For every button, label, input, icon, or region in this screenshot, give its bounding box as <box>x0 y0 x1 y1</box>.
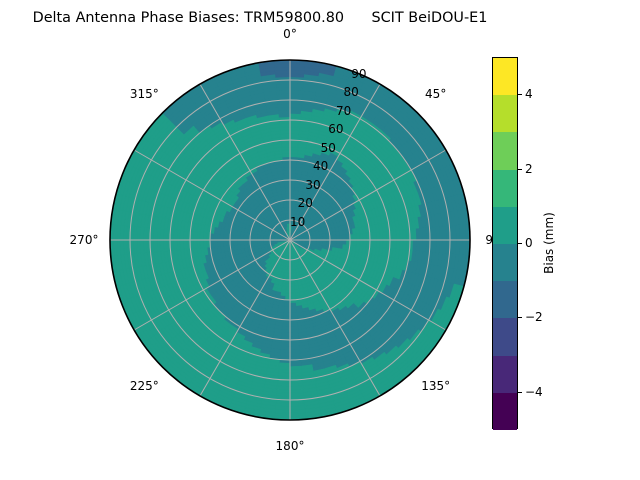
radial-tick-label-40: 40 <box>313 159 328 173</box>
radial-tick-label-90: 90 <box>351 67 366 81</box>
colorbar-tick-label--2: −2 <box>525 310 543 324</box>
colorbar[interactable]: −4−2024 <box>492 57 518 429</box>
colorbar-band <box>493 318 517 355</box>
theta-tick-label-135: 135° <box>421 379 450 393</box>
colorbar-tick-label-0: 0 <box>525 236 533 250</box>
colorbar-tick-label--4: −4 <box>525 385 543 399</box>
theta-tick-label-0: 0° <box>283 27 297 41</box>
colorbar-band <box>493 170 517 207</box>
radial-tick-label-20: 20 <box>298 196 313 210</box>
colorbar-tick-mark <box>518 392 522 393</box>
theta-tick-label-45: 45° <box>425 87 446 101</box>
chart-title: Delta Antenna Phase Biases: TRM59800.80 … <box>0 10 520 27</box>
colorbar-band <box>493 58 517 95</box>
polar-axes[interactable]: 0°45°90°135°180°225°270°315° 10203040506… <box>110 60 470 420</box>
colorbar-band <box>493 393 517 430</box>
radial-tick-label-70: 70 <box>336 104 351 118</box>
colorbar-band <box>493 281 517 318</box>
theta-tick-label-270: 270° <box>70 233 99 247</box>
radial-tick-label-10: 10 <box>290 215 305 229</box>
colorbar-band <box>493 207 517 244</box>
colorbar-axis-label: Bias (mm) <box>542 212 556 274</box>
radial-tick-label-30: 30 <box>305 178 320 192</box>
colorbar-band <box>493 244 517 281</box>
colorbar-band <box>493 356 517 393</box>
figure-canvas: Delta Antenna Phase Biases: TRM59800.80 … <box>0 0 640 480</box>
colorbar-tick-mark <box>518 94 522 95</box>
radial-tick-label-50: 50 <box>321 141 336 155</box>
colorbar-tick-label-2: 2 <box>525 162 533 176</box>
colorbar-tick-mark <box>518 243 522 244</box>
radial-tick-label-60: 60 <box>328 122 343 136</box>
theta-tick-label-315: 315° <box>130 87 159 101</box>
theta-tick-label-225: 225° <box>130 379 159 393</box>
colorbar-tick-label-4: 4 <box>525 87 533 101</box>
colorbar-gradient <box>492 57 518 429</box>
radial-tick-label-80: 80 <box>344 85 359 99</box>
colorbar-tick-mark <box>518 317 522 318</box>
colorbar-band <box>493 132 517 169</box>
theta-tick-label-180: 180° <box>276 439 305 453</box>
polar-plot-svg <box>110 60 470 420</box>
colorbar-tick-mark <box>518 169 522 170</box>
colorbar-band <box>493 95 517 132</box>
